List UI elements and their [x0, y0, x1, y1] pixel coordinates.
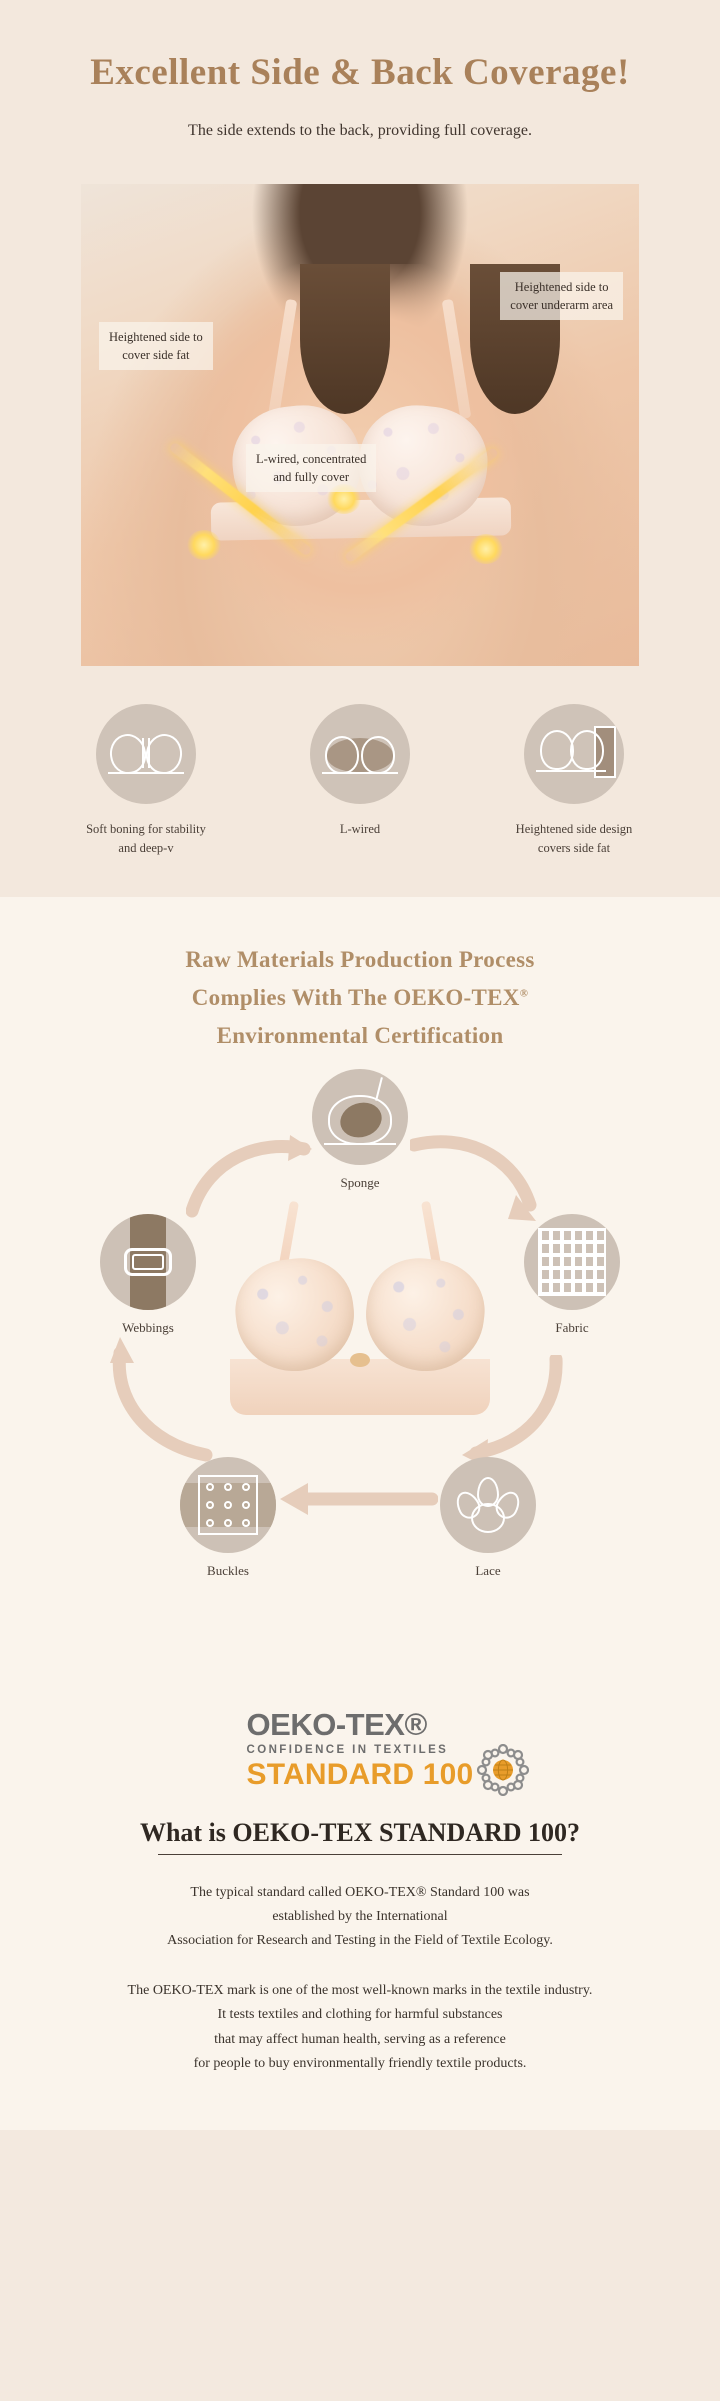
feature-heightened-side: Heightened side design covers side fat: [499, 704, 649, 858]
question-title: What is OEKO-TEX STANDARD 100?: [0, 1818, 720, 1854]
oeko-tex-logo: OEKO-TEX® CONFIDENCE IN TEXTILES STANDAR…: [0, 1659, 720, 1800]
paragraph-two: The OEKO-TEX mark is one of the most wel…: [0, 1979, 720, 2129]
section2-title: Raw Materials Production Process Complie…: [0, 941, 720, 1055]
logo-tagline: CONFIDENCE IN TEXTILES: [247, 1744, 474, 1756]
sponge-icon: [312, 1069, 408, 1165]
cycle-node-label: Buckles: [180, 1563, 276, 1579]
arrow-buckles-to-webbings: [110, 1337, 230, 1467]
model-photo: Heightened side to cover underarm area H…: [81, 184, 639, 666]
cycle-node-sponge: Sponge: [312, 1069, 408, 1191]
oeko-flower-icon: [477, 1744, 529, 1796]
photo-label-underarm: Heightened side to cover underarm area: [500, 272, 623, 320]
page-subtitle: The side extends to the back, providing …: [0, 118, 720, 144]
registered-mark: ®: [520, 988, 529, 1000]
photo-label-side-fat: Heightened side to cover side fat: [99, 322, 213, 370]
logo-standard: STANDARD 100: [247, 1758, 474, 1792]
logo-brand: OEKO-TEX®: [247, 1707, 474, 1743]
webbings-icon: [100, 1214, 196, 1310]
center-bra-image: [230, 1201, 490, 1451]
cycle-node-lace: Lace: [440, 1457, 536, 1579]
section2-title-line1: Raw Materials Production Process: [185, 947, 534, 972]
glow-left: [187, 530, 221, 560]
feature-soft-boning: Soft boning for stability and deep-v: [71, 704, 221, 858]
paragraph-one: The typical standard called OEKO-TEX® St…: [0, 1881, 720, 1953]
center-bow: [350, 1353, 370, 1367]
section2-title-line2: Complies With The OEKO-TEX: [192, 985, 520, 1010]
product-detail-page: Excellent Side & Back Coverage! The side…: [0, 0, 720, 2130]
center-band: [230, 1359, 490, 1415]
feature-l-wired: L-wired: [285, 704, 435, 858]
lace-icon: [440, 1457, 536, 1553]
oeko-tex-section: Raw Materials Production Process Complie…: [0, 897, 720, 2129]
cycle-node-label: Fabric: [524, 1320, 620, 1336]
feature-caption: Soft boning for stability and deep-v: [71, 820, 221, 858]
section2-title-line3: Environmental Certification: [217, 1023, 504, 1048]
arrow-lace-to-buckles: [278, 1479, 438, 1519]
hair-left: [300, 264, 390, 414]
cycle-node-label: Lace: [440, 1563, 536, 1579]
photo-label-l-wired: L-wired, concentrated and fully cover: [246, 444, 376, 492]
title-underline: [158, 1854, 562, 1855]
buckles-icon: [180, 1457, 276, 1553]
page-title: Excellent Side & Back Coverage!: [0, 50, 720, 96]
cycle-node-label: Sponge: [312, 1175, 408, 1191]
coverage-section: Excellent Side & Back Coverage! The side…: [0, 0, 720, 897]
feature-caption: L-wired: [285, 820, 435, 839]
cycle-node-webbings: Webbings: [100, 1214, 196, 1336]
heightened-side-icon: [524, 704, 624, 804]
cycle-node-fabric: Fabric: [524, 1214, 620, 1336]
cycle-node-label: Webbings: [100, 1320, 196, 1336]
soft-boning-icon: [96, 704, 196, 804]
fabric-grid-icon: [524, 1214, 620, 1310]
feature-caption: Heightened side design covers side fat: [499, 820, 649, 858]
feature-icon-row: Soft boning for stability and deep-v L-w…: [0, 704, 720, 858]
glow-right: [469, 534, 503, 564]
materials-cycle-diagram: Sponge Fabric Lace: [0, 1069, 720, 1659]
cycle-node-buckles: Buckles: [180, 1457, 276, 1579]
l-wire-icon: [310, 704, 410, 804]
